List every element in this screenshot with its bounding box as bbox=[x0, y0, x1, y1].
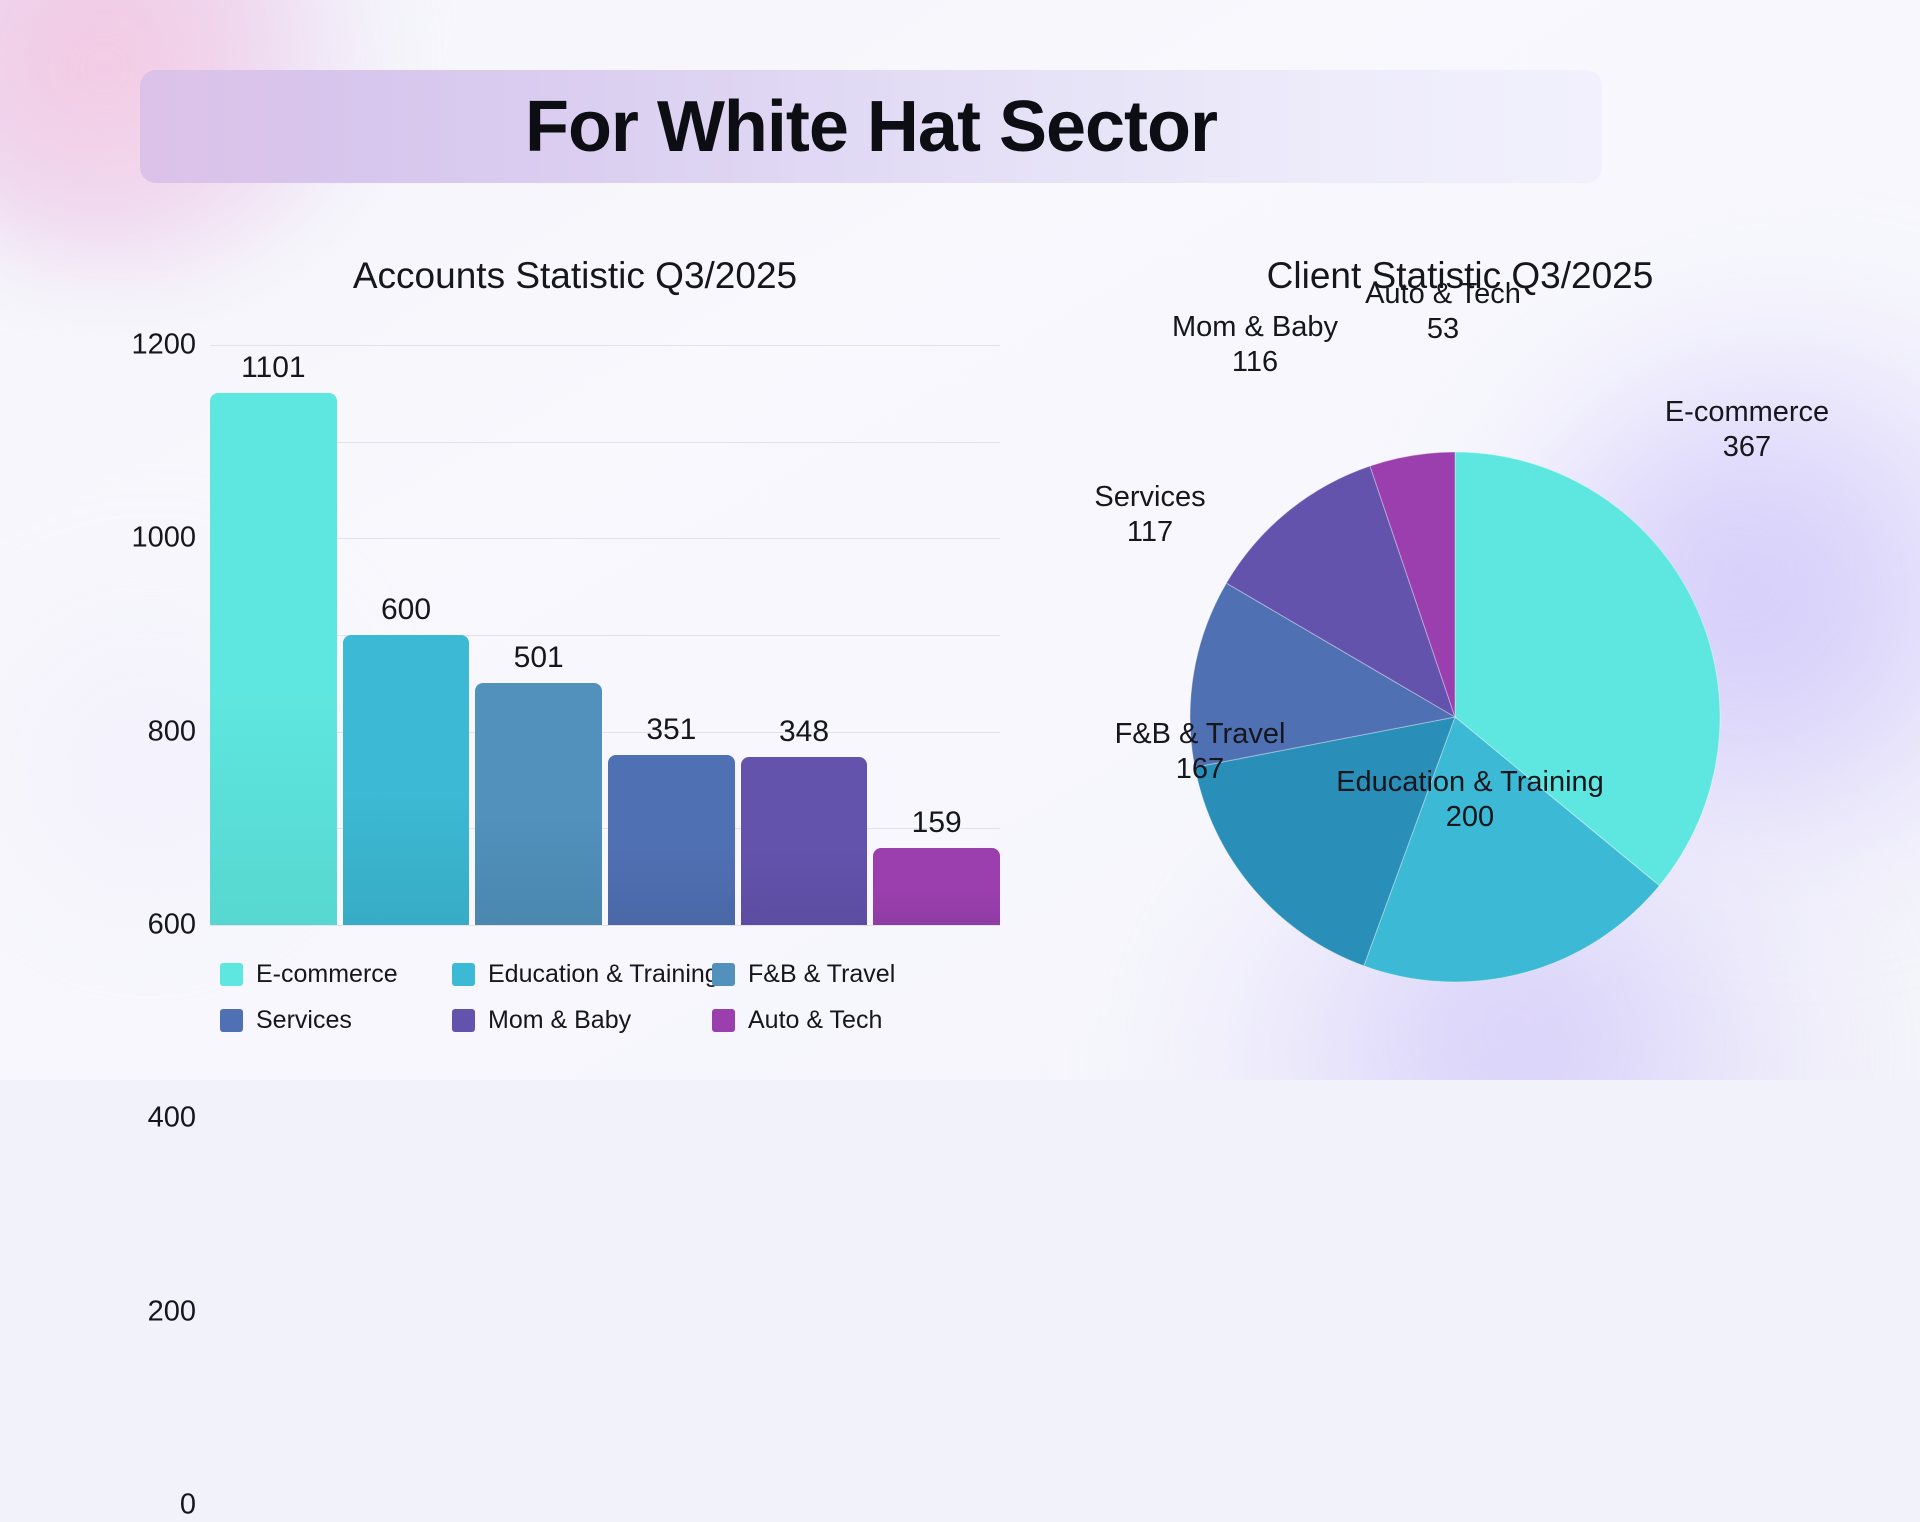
bar-column[interactable]: 348 bbox=[741, 345, 868, 925]
accounts-bar-chart-panel: Accounts Statistic Q3/2025 0200400600800… bbox=[105, 255, 1045, 1035]
y-axis-tick-label: 600 bbox=[148, 909, 196, 942]
y-axis-tick-label: 1200 bbox=[131, 329, 196, 362]
legend-item-label: Services bbox=[256, 1006, 352, 1035]
pie-slice-label: Services117 bbox=[1094, 480, 1205, 550]
legend-item-label: Auto & Tech bbox=[748, 1006, 882, 1035]
bar-value-label: 600 bbox=[343, 593, 470, 627]
bar-chart-title: Accounts Statistic Q3/2025 bbox=[105, 255, 1045, 297]
gridline: 0 bbox=[210, 925, 1000, 926]
bar-column[interactable]: 351 bbox=[608, 345, 735, 925]
y-axis-tick-label: 400 bbox=[148, 1102, 196, 1135]
pie-slice-label-name: E-commerce bbox=[1665, 395, 1829, 430]
bar-value-label: 348 bbox=[741, 715, 868, 749]
bar-value-label: 1101 bbox=[210, 351, 337, 385]
client-pie-chart-panel: Client Statistic Q3/2025 E-commerce367Ed… bbox=[1000, 255, 1920, 1045]
legend-item[interactable]: F&B & Travel bbox=[712, 960, 942, 989]
legend-item[interactable]: Education & Training bbox=[452, 960, 712, 989]
legend-item[interactable]: E-commerce bbox=[220, 960, 452, 989]
bar[interactable] bbox=[873, 848, 1000, 925]
bar[interactable] bbox=[608, 755, 735, 925]
y-axis-tick-label: 1000 bbox=[131, 522, 196, 555]
bar-value-label: 351 bbox=[608, 713, 735, 747]
bar-value-label: 159 bbox=[873, 806, 1000, 840]
legend-item-label: F&B & Travel bbox=[748, 960, 895, 989]
title-banner: For White Hat Sector bbox=[140, 70, 1602, 183]
pie-slice-label: E-commerce367 bbox=[1665, 395, 1829, 465]
pie-slice-label: Mom & Baby116 bbox=[1172, 310, 1338, 380]
pie-slice-label: Auto & Tech53 bbox=[1365, 277, 1521, 347]
bar[interactable] bbox=[210, 393, 337, 925]
bar-series: 1101600501351348159 bbox=[210, 345, 1000, 925]
legend-item-label: Education & Training bbox=[488, 960, 719, 989]
bar-chart-plot-area: 020040060080010001200 110160050135134815… bbox=[210, 345, 1000, 925]
pie-chart-plot-area: E-commerce367Education & Training200F&B … bbox=[1000, 255, 1920, 1045]
legend-swatch-icon bbox=[712, 1009, 735, 1032]
bar[interactable] bbox=[343, 635, 470, 925]
y-axis-tick-label: 0 bbox=[180, 1489, 196, 1522]
page-title: For White Hat Sector bbox=[140, 86, 1602, 168]
bar-column[interactable]: 501 bbox=[475, 345, 602, 925]
pie-slice-label-value: 167 bbox=[1115, 752, 1286, 787]
legend-item-label: Mom & Baby bbox=[488, 1006, 631, 1035]
pie-slice-label-value: 116 bbox=[1172, 345, 1338, 380]
bar-column[interactable]: 600 bbox=[343, 345, 470, 925]
legend-swatch-icon bbox=[220, 963, 243, 986]
bar[interactable] bbox=[475, 683, 602, 925]
pie-slice-label: F&B & Travel167 bbox=[1115, 717, 1286, 787]
bar-column[interactable]: 159 bbox=[873, 345, 1000, 925]
legend-swatch-icon bbox=[712, 963, 735, 986]
pie-slice-label-value: 200 bbox=[1336, 800, 1604, 835]
bar-value-label: 501 bbox=[475, 641, 602, 675]
legend-swatch-icon bbox=[452, 963, 475, 986]
legend-item[interactable]: Auto & Tech bbox=[712, 1006, 942, 1035]
y-axis-tick-label: 800 bbox=[148, 715, 196, 748]
pie-slice-label-value: 117 bbox=[1094, 515, 1205, 550]
bar[interactable] bbox=[741, 757, 868, 925]
chart-legend: E-commerceEducation & TrainingF&B & Trav… bbox=[220, 960, 1020, 1035]
legend-item-label: E-commerce bbox=[256, 960, 398, 989]
pie-slice-label-value: 367 bbox=[1665, 430, 1829, 465]
legend-swatch-icon bbox=[452, 1009, 475, 1032]
pie-slice-label-name: Services bbox=[1094, 480, 1205, 515]
legend-item[interactable]: Services bbox=[220, 1006, 452, 1035]
y-axis-tick-label: 200 bbox=[148, 1295, 196, 1328]
pie-slice-label-name: Auto & Tech bbox=[1365, 277, 1521, 312]
pie-slice-label-name: Mom & Baby bbox=[1172, 310, 1338, 345]
pie-slice-label: Education & Training200 bbox=[1336, 765, 1604, 835]
legend-swatch-icon bbox=[220, 1009, 243, 1032]
pie-chart-svg bbox=[1000, 255, 1920, 1045]
pie-slice-label-value: 53 bbox=[1365, 312, 1521, 347]
legend-item[interactable]: Mom & Baby bbox=[452, 1006, 712, 1035]
bar-column[interactable]: 1101 bbox=[210, 345, 337, 925]
pie-slice-label-name: Education & Training bbox=[1336, 765, 1604, 800]
pie-slice-label-name: F&B & Travel bbox=[1115, 717, 1286, 752]
